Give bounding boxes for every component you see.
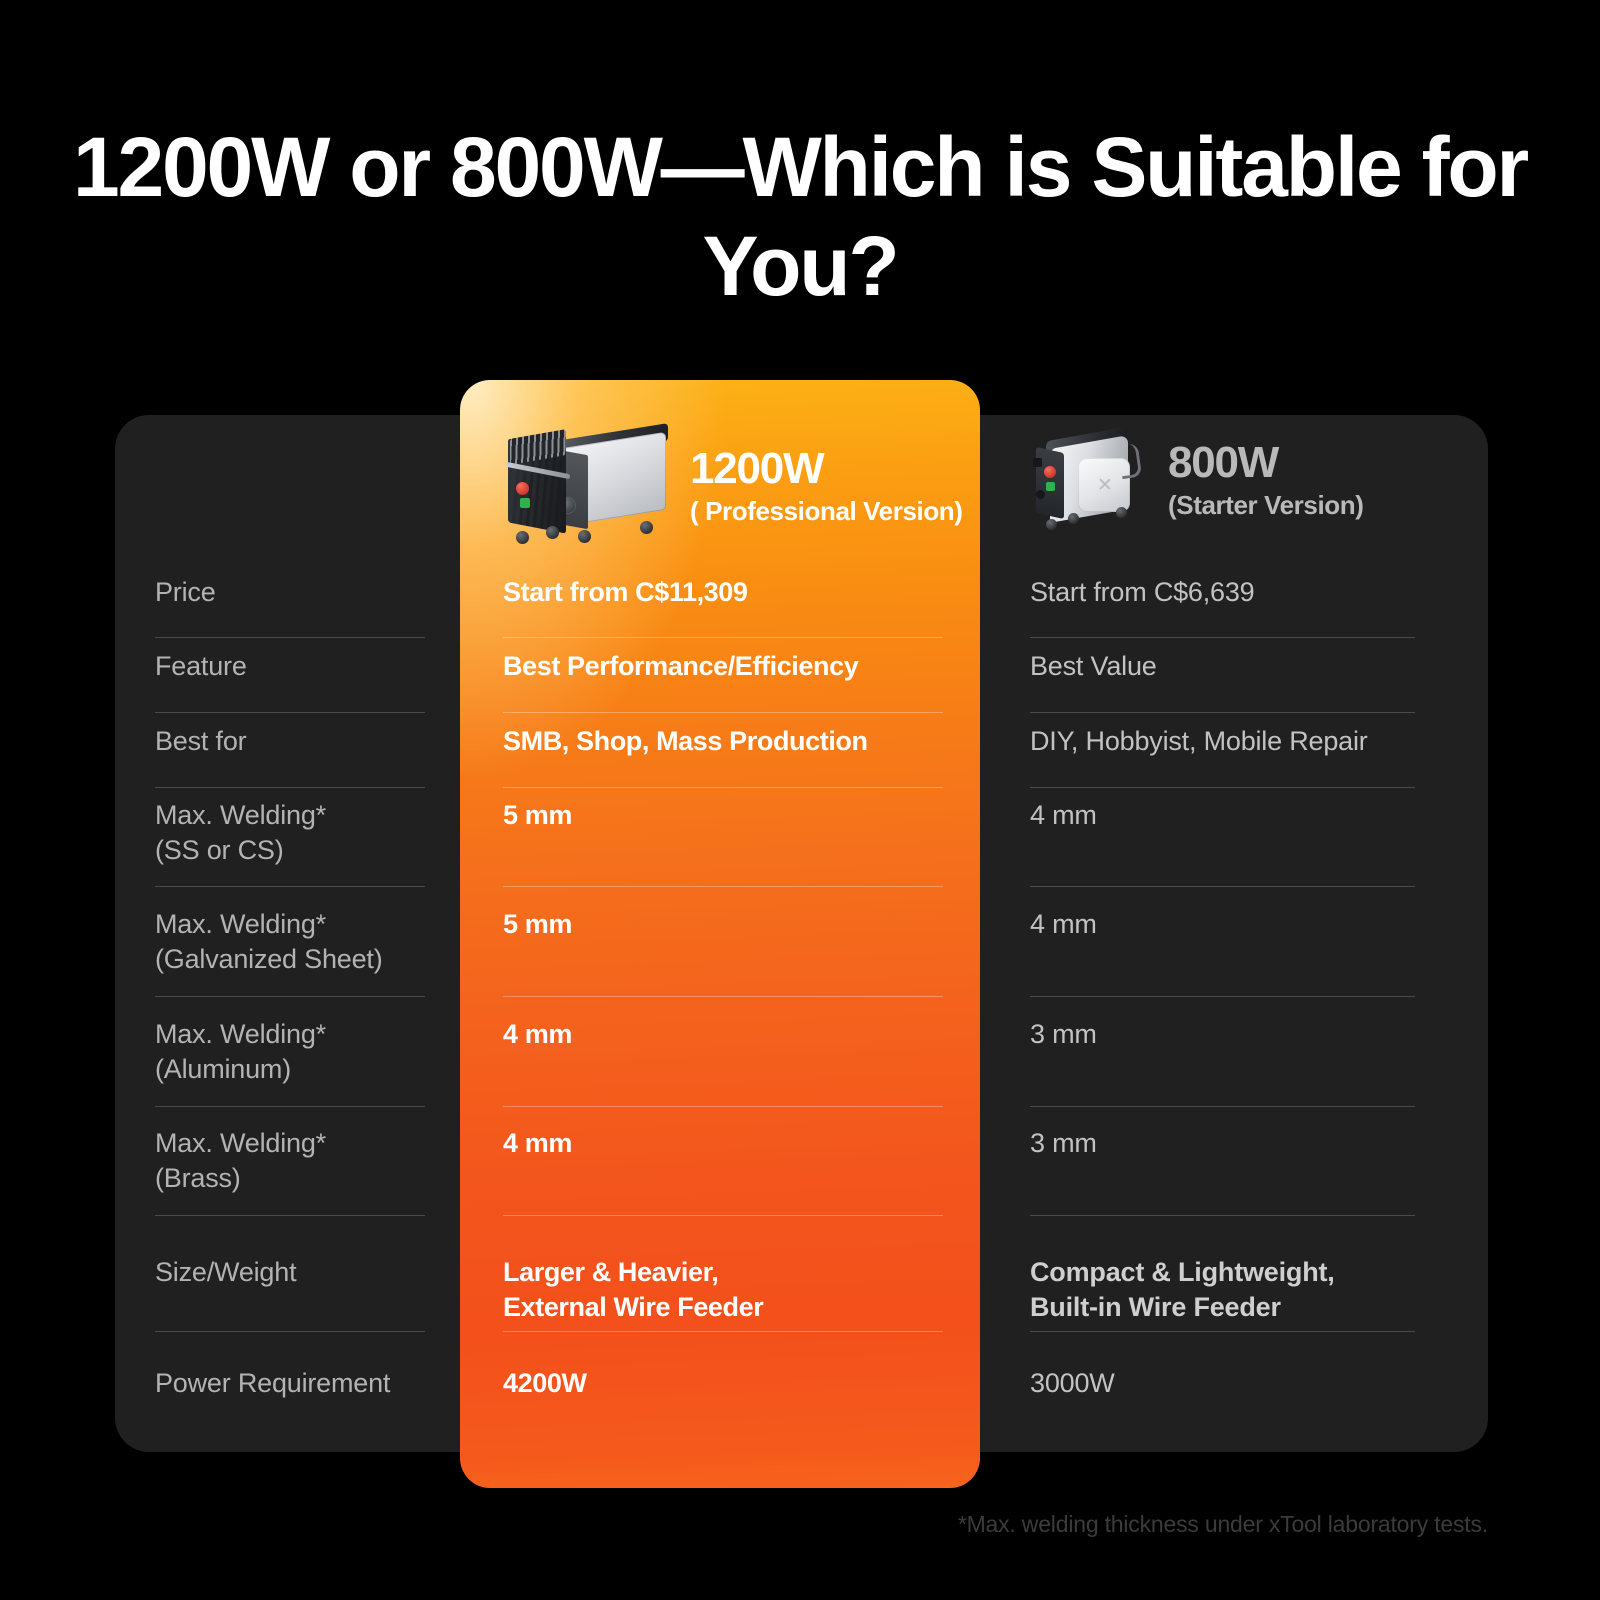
row-value-professional: Start from C$11,309 (503, 575, 943, 610)
row-value-starter: 3000W (1030, 1366, 1425, 1401)
row-divider (503, 1215, 943, 1216)
product-power-starter: 800W (1168, 441, 1364, 486)
row-label: Feature (155, 649, 430, 684)
row-label: Price (155, 575, 430, 610)
row-label: Max. Welding*(Brass) (155, 1126, 430, 1195)
row-value-professional: 4200W (503, 1366, 943, 1401)
row-divider (503, 996, 943, 997)
product-version-starter: (Starter Version) (1168, 492, 1364, 519)
row-label: Size/Weight (155, 1255, 430, 1290)
row-value-professional: SMB, Shop, Mass Production (503, 724, 943, 759)
row-divider (503, 712, 943, 713)
row-divider (155, 996, 425, 997)
product-version-professional: ( Professional Version) (690, 498, 963, 525)
row-divider (1030, 886, 1415, 887)
product-power-professional: 1200W (690, 447, 963, 492)
row-divider (155, 886, 425, 887)
row-divider (1030, 712, 1415, 713)
row-divider (155, 1106, 425, 1107)
row-divider (155, 1215, 425, 1216)
row-value-starter: 3 mm (1030, 1017, 1425, 1052)
row-value-professional: 5 mm (503, 907, 943, 942)
row-divider (155, 712, 425, 713)
row-value-starter: Best Value (1030, 649, 1425, 684)
row-label: Best for (155, 724, 430, 759)
xtool-800w-welder-image: ✕ (1028, 428, 1146, 532)
row-divider (503, 1106, 943, 1107)
row-value-starter: 4 mm (1030, 907, 1425, 942)
row-value-professional: 5 mm (503, 798, 943, 833)
row-divider (1030, 1106, 1415, 1107)
row-value-starter: 4 mm (1030, 798, 1425, 833)
row-divider (1030, 1215, 1415, 1216)
row-label: Max. Welding*(Aluminum) (155, 1017, 430, 1086)
row-divider (1030, 1331, 1415, 1332)
xtool-1200w-welder-image (500, 428, 670, 544)
row-value-professional: Best Performance/Efficiency (503, 649, 943, 684)
row-value-professional: 4 mm (503, 1126, 943, 1161)
xtool-x-logo-icon: ✕ (1094, 476, 1116, 496)
comparison-infographic: 1200W or 800W—Which is Suitable for You? (0, 0, 1600, 1600)
row-divider (503, 637, 943, 638)
product-header-professional: 1200W ( Professional Version) (500, 428, 963, 544)
row-divider (1030, 787, 1415, 788)
row-value-starter: 3 mm (1030, 1126, 1425, 1161)
row-value-professional: Larger & Heavier,External Wire Feeder (503, 1255, 943, 1325)
product-name-professional: 1200W ( Professional Version) (690, 447, 963, 524)
row-value-starter: Start from C$6,639 (1030, 575, 1425, 610)
row-divider (503, 1331, 943, 1332)
row-divider (503, 886, 943, 887)
row-divider (155, 637, 425, 638)
footnote: *Max. welding thickness under xTool labo… (958, 1511, 1488, 1538)
row-divider (1030, 996, 1415, 997)
row-label: Max. Welding*(Galvanized Sheet) (155, 907, 430, 976)
row-divider (1030, 637, 1415, 638)
product-name-starter: 800W (Starter Version) (1168, 441, 1364, 518)
row-divider (503, 787, 943, 788)
row-value-starter: Compact & Lightweight,Built-in Wire Feed… (1030, 1255, 1425, 1325)
row-divider (155, 787, 425, 788)
row-value-starter: DIY, Hobbyist, Mobile Repair (1030, 724, 1425, 759)
row-label: Max. Welding*(SS or CS) (155, 798, 430, 867)
product-header-starter: ✕ 800W (Starter Version) (1028, 428, 1364, 532)
row-value-professional: 4 mm (503, 1017, 943, 1052)
row-divider (155, 1331, 425, 1332)
page-title: 1200W or 800W—Which is Suitable for You? (0, 118, 1600, 316)
row-label: Power Requirement (155, 1366, 430, 1401)
